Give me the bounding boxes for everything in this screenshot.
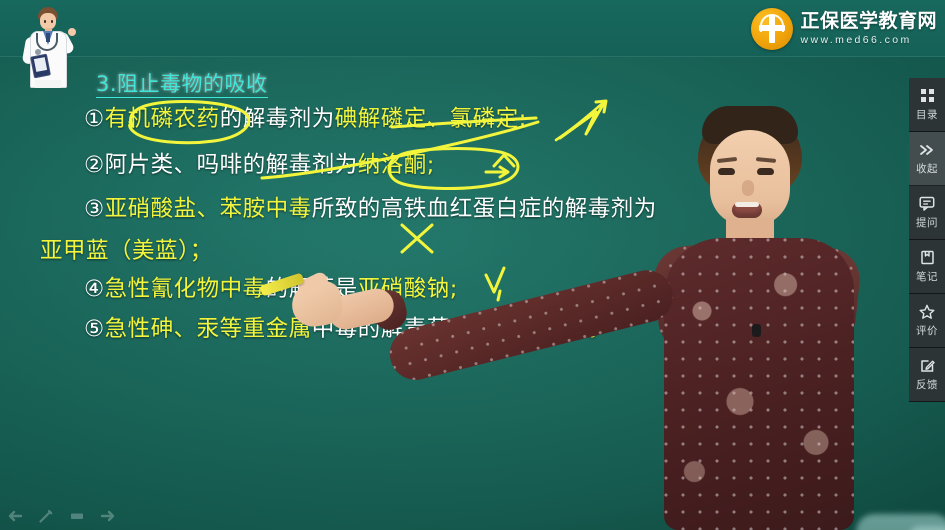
slide-line-1: ①有机磷农药的解毒剂为碘解磷定、氯磷定; xyxy=(84,108,527,131)
sidebar-label-ask: 提问 xyxy=(916,215,938,230)
lecture-video-screen: 理化因素所致疾病 正保医学教育网 www.med66.com 3.阻止毒物的吸收… xyxy=(0,0,945,530)
eraser-icon[interactable] xyxy=(68,508,85,524)
grid-icon xyxy=(919,87,936,104)
sidebar-item-rating[interactable]: 评价 xyxy=(909,294,945,348)
chat-bubble-icon xyxy=(919,195,936,212)
sidebar-label-feedback: 反馈 xyxy=(916,377,938,392)
brand-logo: 正保医学教育网 www.med66.com xyxy=(751,6,937,52)
lapel-microphone xyxy=(752,324,761,337)
brand-name: 正保医学教育网 xyxy=(800,12,937,31)
sidebar-label-catalog: 目录 xyxy=(916,107,938,122)
sidebar-item-catalog[interactable]: 目录 xyxy=(909,78,945,132)
pen-icon[interactable] xyxy=(37,508,54,524)
sidebar-item-notes[interactable]: 笔记 xyxy=(909,240,945,294)
star-icon xyxy=(919,303,936,320)
redo-arrow-icon[interactable] xyxy=(99,508,116,524)
doctor-illustration xyxy=(14,0,80,88)
sidebar-item-feedback[interactable]: 反馈 xyxy=(909,348,945,402)
sidebar-label-rating: 评价 xyxy=(916,323,938,338)
presenter-video-overlay xyxy=(560,96,945,530)
right-toolbar[interactable]: 目录 收起 提问 xyxy=(909,78,945,402)
sidebar-label-collapse: 收起 xyxy=(916,161,938,176)
brand-url: www.med66.com xyxy=(800,35,937,46)
medical-cross-badge-icon xyxy=(751,8,793,50)
undo-arrow-icon[interactable] xyxy=(6,508,23,524)
sidebar-label-notes: 笔记 xyxy=(916,269,938,284)
slide-line-2: ②阿片类、吗啡的解毒剂为纳洛酮; xyxy=(84,154,435,177)
annotation-toolbar[interactable] xyxy=(6,508,116,524)
note-book-icon xyxy=(919,249,936,266)
pencil-square-icon xyxy=(919,357,936,374)
sidebar-item-ask[interactable]: 提问 xyxy=(909,186,945,240)
chevron-double-right-icon xyxy=(919,141,936,158)
slide-line-3-continued: 亚甲蓝（美蓝）； xyxy=(40,240,213,263)
slide-heading: 3.阻止毒物的吸收 xyxy=(96,74,268,95)
sidebar-item-collapse[interactable]: 收起 xyxy=(909,132,945,186)
